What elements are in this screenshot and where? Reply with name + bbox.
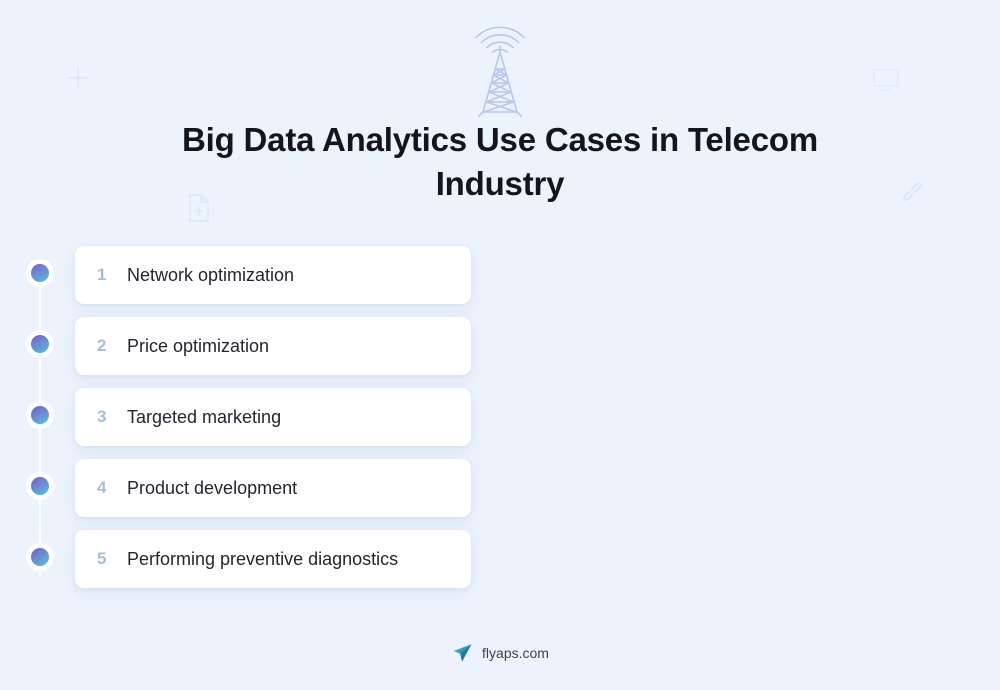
use-case-number: 3 — [97, 407, 127, 427]
use-case-number: 1 — [97, 265, 127, 285]
timeline-dot-icon — [31, 406, 49, 424]
timeline-dot-icon — [31, 548, 49, 566]
list-item[interactable]: 1 Network optimization — [0, 246, 500, 317]
cell-tower-icon — [0, 12, 1000, 120]
use-case-card[interactable]: 1 Network optimization — [75, 246, 471, 304]
use-case-number: 2 — [97, 336, 127, 356]
use-case-card[interactable]: 2 Price optimization — [75, 317, 471, 375]
use-case-label: Price optimization — [127, 336, 269, 357]
use-case-list: 1 Network optimization 2 Price optimizat… — [0, 246, 1000, 601]
list-item[interactable]: 6 Predictive churn analysis — [500, 246, 1000, 317]
use-case-column-right: 6 Predictive churn analysis 7 Attracting… — [500, 246, 1000, 601]
use-case-card[interactable]: 4 Product development — [75, 459, 471, 517]
list-item[interactable]: 7 Attracting new subscribers — [500, 317, 1000, 388]
brand-name: flyaps.com — [482, 645, 549, 661]
use-case-number: 4 — [97, 478, 127, 498]
use-case-label: Performing preventive diagnostics — [127, 549, 398, 570]
timeline-dot-icon — [31, 264, 49, 282]
use-case-number: 5 — [97, 549, 127, 569]
list-item[interactable]: 10 Recommendation engines — [500, 530, 1000, 601]
page-title: Big Data Analytics Use Cases in Telecom … — [0, 118, 1000, 206]
list-item[interactable]: 5 Performing preventive diagnostics — [0, 530, 500, 601]
list-item[interactable]: 8 Preventing fraud — [500, 388, 1000, 459]
list-item[interactable]: 9 Product innovation — [500, 459, 1000, 530]
use-case-label: Network optimization — [127, 265, 294, 286]
list-item[interactable]: 4 Product development — [0, 459, 500, 530]
use-case-card[interactable]: 5 Performing preventive diagnostics — [75, 530, 471, 588]
list-item[interactable]: 2 Price optimization — [0, 317, 500, 388]
use-case-label: Product development — [127, 478, 297, 499]
timeline-dot-icon — [31, 477, 49, 495]
list-item[interactable]: 3 Targeted marketing — [0, 388, 500, 459]
footer-brand[interactable]: flyaps.com — [0, 642, 1000, 664]
timeline-dot-icon — [31, 335, 49, 353]
paper-plane-icon — [451, 642, 473, 664]
use-case-column-left: 1 Network optimization 2 Price optimizat… — [0, 246, 500, 601]
use-case-card[interactable]: 3 Targeted marketing — [75, 388, 471, 446]
use-case-label: Targeted marketing — [127, 407, 281, 428]
